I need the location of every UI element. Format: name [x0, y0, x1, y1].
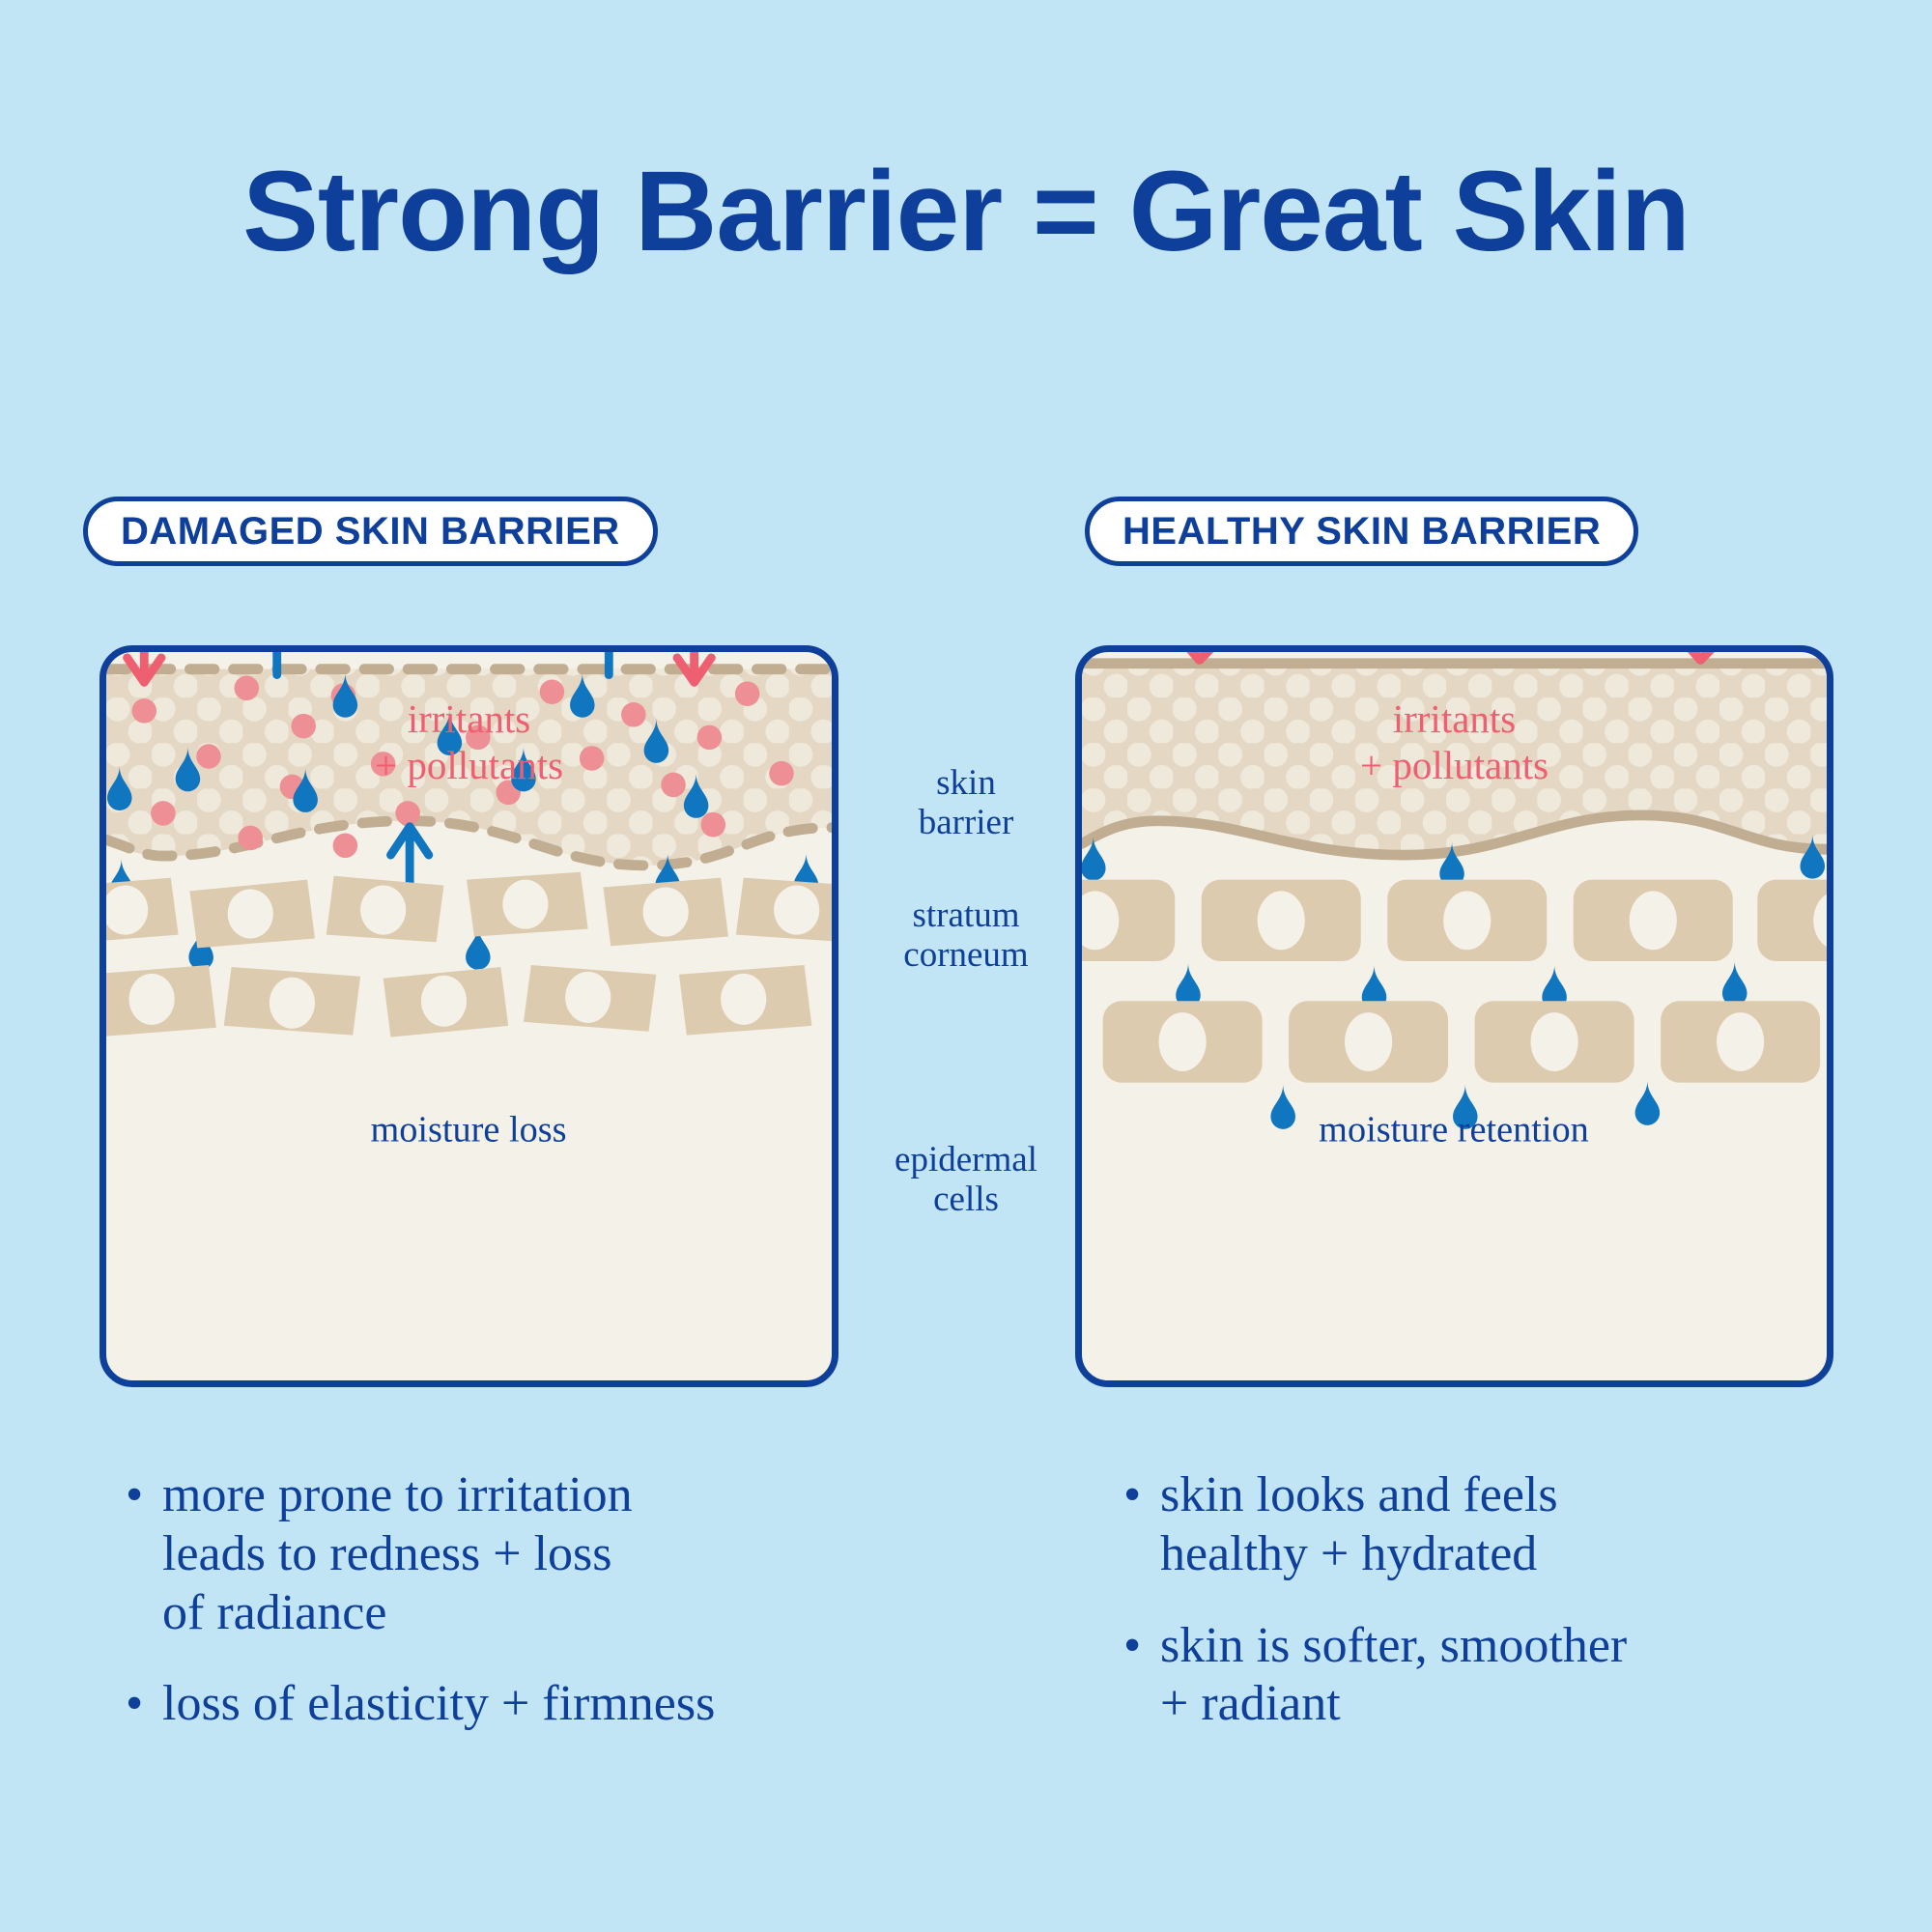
irritants-line1: irritants [408, 696, 531, 741]
bullet-text: more prone to irritationleads to redness… [162, 1466, 898, 1642]
irritants-pollutants-label-healthy: irritants + pollutants [1082, 696, 1827, 788]
skin-barrier-line1: skin [936, 763, 996, 803]
epidermal-cells-row2-damaged [106, 965, 811, 1037]
bullet-list-healthy: •skin looks and feelshealthy + hydrated•… [1123, 1466, 1887, 1734]
water-droplets-healthy [1082, 835, 1825, 1129]
bullet-list-damaged-items: •more prone to irritationleads to rednes… [126, 1466, 898, 1734]
bullet-item: •skin looks and feelshealthy + hydrated [1123, 1466, 1887, 1584]
moisture-loss-label: moisture loss [370, 1110, 566, 1151]
stratum-line1: stratum [913, 895, 1020, 935]
irritants-line2: + pollutants [375, 743, 563, 787]
epidermal-cells-row2-healthy [1103, 1001, 1821, 1082]
epidermal-line2: cells [933, 1179, 999, 1219]
bullet-marker-icon: • [126, 1466, 143, 1525]
axis-label-epidermal-cells: epidermal cells [855, 1140, 1077, 1220]
irritants-line1: irritants [1393, 696, 1517, 741]
bullet-item: •skin is softer, smoother+ radiant [1123, 1617, 1887, 1735]
page-title: Strong Barrier = Great Skin [0, 155, 1932, 269]
axis-label-skin-barrier: skin barrier [855, 763, 1077, 843]
bullet-list-healthy-items: •skin looks and feelshealthy + hydrated•… [1123, 1466, 1887, 1734]
badge-damaged-skin-barrier: DAMAGED SKIN BARRIER [83, 497, 658, 566]
bullet-marker-icon: • [1123, 1617, 1141, 1676]
irritants-pollutants-label-damaged: irritants + pollutants [106, 696, 832, 788]
badge-healthy-skin-barrier: HEALTHY SKIN BARRIER [1085, 497, 1638, 566]
diagram-healthy-skin-barrier: moisture retention irritants + pollutant… [1075, 645, 1833, 1387]
bullet-text: skin is softer, smoother+ radiant [1160, 1617, 1887, 1735]
bullet-marker-icon: • [126, 1675, 143, 1734]
infographic-root: Strong Barrier = Great Skin DAMAGED SKIN… [0, 0, 1932, 1932]
epidermal-cells-row1-healthy [1082, 880, 1827, 961]
bullet-list-damaged: •more prone to irritationleads to rednes… [126, 1466, 898, 1734]
bullet-item: •loss of elasticity + firmness [126, 1675, 898, 1734]
stratum-line2: corneum [903, 935, 1028, 975]
epidermal-cells-row1-damaged [106, 872, 832, 949]
bullet-marker-icon: • [1123, 1466, 1141, 1525]
irritants-line2: + pollutants [1360, 743, 1548, 787]
skin-barrier-line2: barrier [919, 803, 1014, 842]
bullet-item: •more prone to irritationleads to rednes… [126, 1466, 898, 1642]
axis-label-stratum-corneum: stratum corneum [855, 895, 1077, 976]
epidermal-line1: epidermal [895, 1140, 1037, 1179]
moisture-retention-label: moisture retention [1319, 1110, 1589, 1151]
bullet-text: loss of elasticity + firmness [162, 1675, 898, 1734]
diagram-damaged-skin-barrier: irritants moisture loss irritants + poll… [99, 645, 838, 1387]
bullet-text: skin looks and feelshealthy + hydrated [1160, 1466, 1887, 1584]
